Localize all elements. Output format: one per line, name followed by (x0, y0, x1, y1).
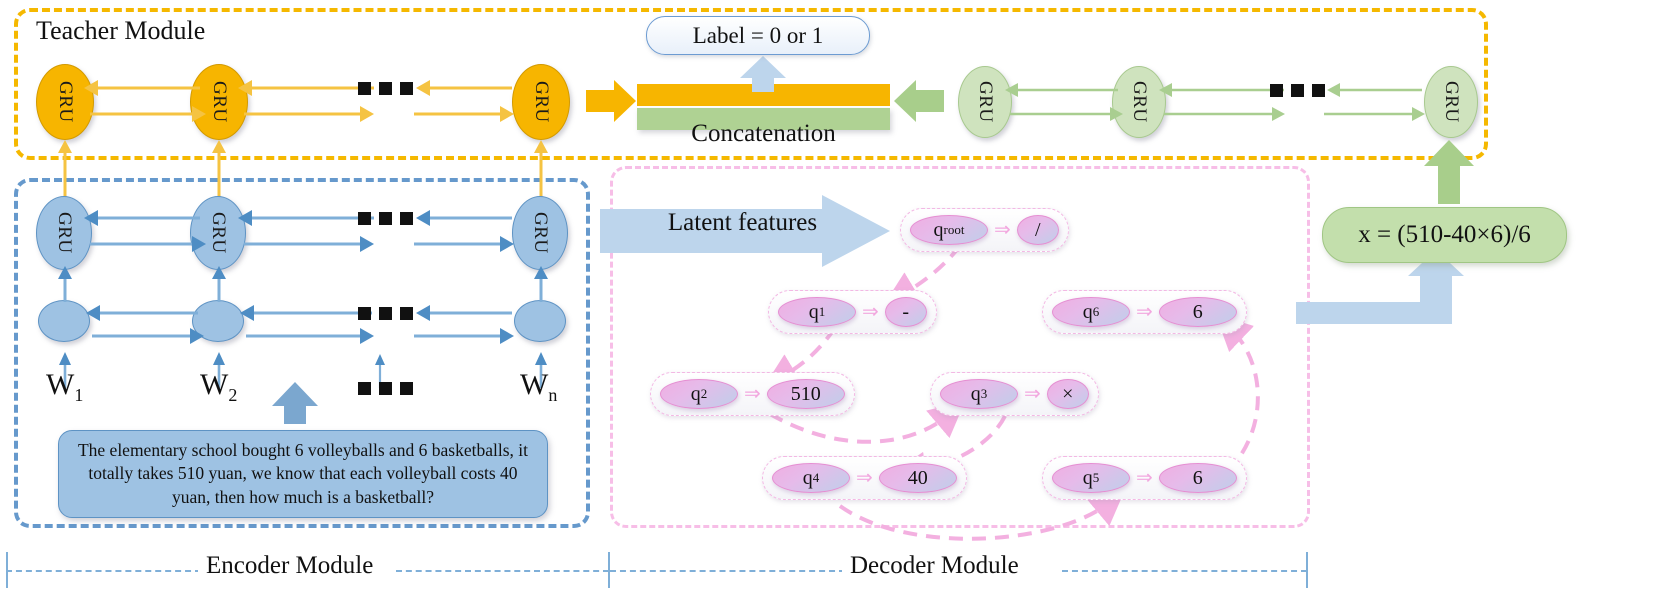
gru-label: GRU (53, 212, 75, 254)
gru-label: GRU (207, 212, 229, 254)
teacher-green-link-1 (1000, 78, 1130, 128)
teacher-green-ellipsis (1270, 84, 1325, 97)
tree-node-value: - (885, 297, 927, 327)
tree-node-query: q6 (1052, 297, 1130, 327)
query-base: q (803, 467, 813, 490)
encoder-embedding-ellipsis (358, 307, 413, 320)
problem-statement-box: The elementary school bought 6 volleybal… (58, 430, 548, 518)
pink-arrow-icon: ⇒ (1136, 468, 1153, 488)
word-base: W (46, 368, 74, 401)
tree-node-value: × (1047, 379, 1089, 409)
latent-features-label: Latent features (630, 209, 855, 237)
word-sub: 2 (228, 385, 237, 405)
query-base: q (971, 383, 981, 406)
tree-node-value: 6 (1159, 297, 1237, 327)
encoder-to-teacher-link-3 (532, 140, 552, 204)
decoder-to-equation-arrow (1296, 262, 1476, 334)
decoder-axis-right (1062, 570, 1307, 572)
word-sub: n (548, 385, 557, 405)
gru-label: GRU (1128, 81, 1150, 123)
gru-label: GRU (529, 212, 551, 254)
problem-statement-text: The elementary school bought 6 volleybal… (71, 439, 535, 508)
tree-node-value: 510 (767, 379, 845, 409)
gru-label: GRU (1440, 81, 1462, 123)
encoder-axis-tick-left (6, 552, 8, 588)
concatenation-label: Concatenation (637, 120, 890, 148)
encoder-to-teacher-link-1 (56, 140, 76, 204)
pink-arrow-icon: ⇒ (862, 302, 879, 322)
gru-label: GRU (208, 81, 230, 123)
tree-node-query: q5 (1052, 463, 1130, 493)
word-sub: 1 (74, 385, 83, 405)
teacher-green-link-3 (1322, 78, 1428, 128)
encoder-gru-link-3 (412, 206, 518, 256)
teacher-orange-ellipsis (358, 82, 413, 95)
tree-node-q6[interactable]: q6 ⇒ 6 (1042, 290, 1247, 334)
teacher-gru-green-3[interactable]: GRU (1424, 66, 1478, 138)
tree-node-value: 40 (879, 463, 957, 493)
tree-node-q5[interactable]: q5 ⇒ 6 (1042, 456, 1247, 500)
tree-node-root[interactable]: qroot ⇒ / (900, 208, 1069, 252)
tree-node-query: q2 (660, 379, 738, 409)
query-sub: 2 (701, 386, 708, 402)
decoder-axis-left (610, 570, 845, 572)
query-sub: 1 (819, 304, 826, 320)
tree-node-q2[interactable]: q2 ⇒ 510 (650, 372, 855, 416)
query-base: q (691, 383, 701, 406)
pink-arrow-icon: ⇒ (856, 468, 873, 488)
embedding-to-gru-arrow-2 (210, 266, 230, 302)
query-sub: root (944, 222, 965, 238)
pink-arrow-icon: ⇒ (744, 384, 761, 404)
label-up-arrow (740, 56, 786, 92)
teacher-module-title: Teacher Module (36, 16, 205, 46)
query-sub: 3 (981, 386, 988, 402)
teacher-orange-link-3 (412, 76, 518, 128)
encoder-gru-ellipsis (358, 212, 413, 225)
encoder-embedding-3[interactable] (514, 300, 566, 342)
word-label-n: Wn (520, 368, 557, 406)
word-base: W (200, 368, 228, 401)
query-sub: 5 (1093, 470, 1100, 486)
tree-node-query: qroot (910, 215, 988, 245)
word-base: W (520, 368, 548, 401)
query-base: q (1083, 467, 1093, 490)
diagram-canvas: Teacher Module GRU GRU GRU Concatenation (0, 0, 1658, 604)
tree-node-q4[interactable]: q4 ⇒ 40 (762, 456, 967, 500)
teacher-gru-orange-3[interactable]: GRU (512, 64, 570, 140)
word-label-1: W1 (46, 368, 83, 406)
encoder-word-ellipsis (358, 382, 413, 395)
pink-arrow-icon: ⇒ (994, 220, 1011, 240)
tree-node-query: q1 (778, 297, 856, 327)
encoder-gru-link-1 (80, 206, 210, 256)
tree-node-query: q3 (940, 379, 1018, 409)
tree-node-q3[interactable]: q3 ⇒ × (930, 372, 1099, 416)
pink-arrow-icon: ⇒ (1024, 384, 1041, 404)
embedding-link-3 (412, 302, 518, 348)
equation-to-teacher-arrow (1424, 140, 1474, 204)
green-block-arrow (894, 80, 946, 122)
decoder-axis-tick-right (1306, 552, 1308, 588)
encoder-gru-3[interactable]: GRU (512, 196, 568, 270)
gru-label: GRU (974, 81, 996, 123)
query-sub: 6 (1093, 304, 1100, 320)
gru-label: GRU (530, 81, 552, 123)
embedding-to-gru-arrow-3 (532, 266, 552, 302)
tree-node-value: 6 (1159, 463, 1237, 493)
decoder-module-label: Decoder Module (842, 552, 1027, 580)
query-base: q (1083, 301, 1093, 324)
word-label-2: W2 (200, 368, 237, 406)
encoder-module-label: Encoder Module (198, 552, 381, 580)
tree-node-value: / (1017, 215, 1059, 245)
embedding-to-gru-arrow-1 (56, 266, 76, 302)
query-base: q (934, 219, 944, 242)
encoder-to-teacher-link-2 (210, 140, 230, 204)
query-sub: 4 (813, 470, 820, 486)
orange-block-arrow (586, 80, 638, 122)
query-base: q (809, 301, 819, 324)
equation-output-pill: x = (510-40×6)/6 (1322, 207, 1567, 263)
problem-to-words-arrow (272, 382, 318, 424)
encoder-axis-right (396, 570, 609, 572)
gru-label: GRU (54, 81, 76, 123)
encoder-axis-left (6, 570, 201, 572)
teacher-orange-link-1 (80, 76, 210, 128)
embedding-link-1 (82, 302, 208, 348)
tree-node-query: q4 (772, 463, 850, 493)
pink-arrow-icon: ⇒ (1136, 302, 1153, 322)
tree-node-q1[interactable]: q1 ⇒ - (768, 290, 937, 334)
label-output-pill: Label = 0 or 1 (646, 16, 870, 55)
